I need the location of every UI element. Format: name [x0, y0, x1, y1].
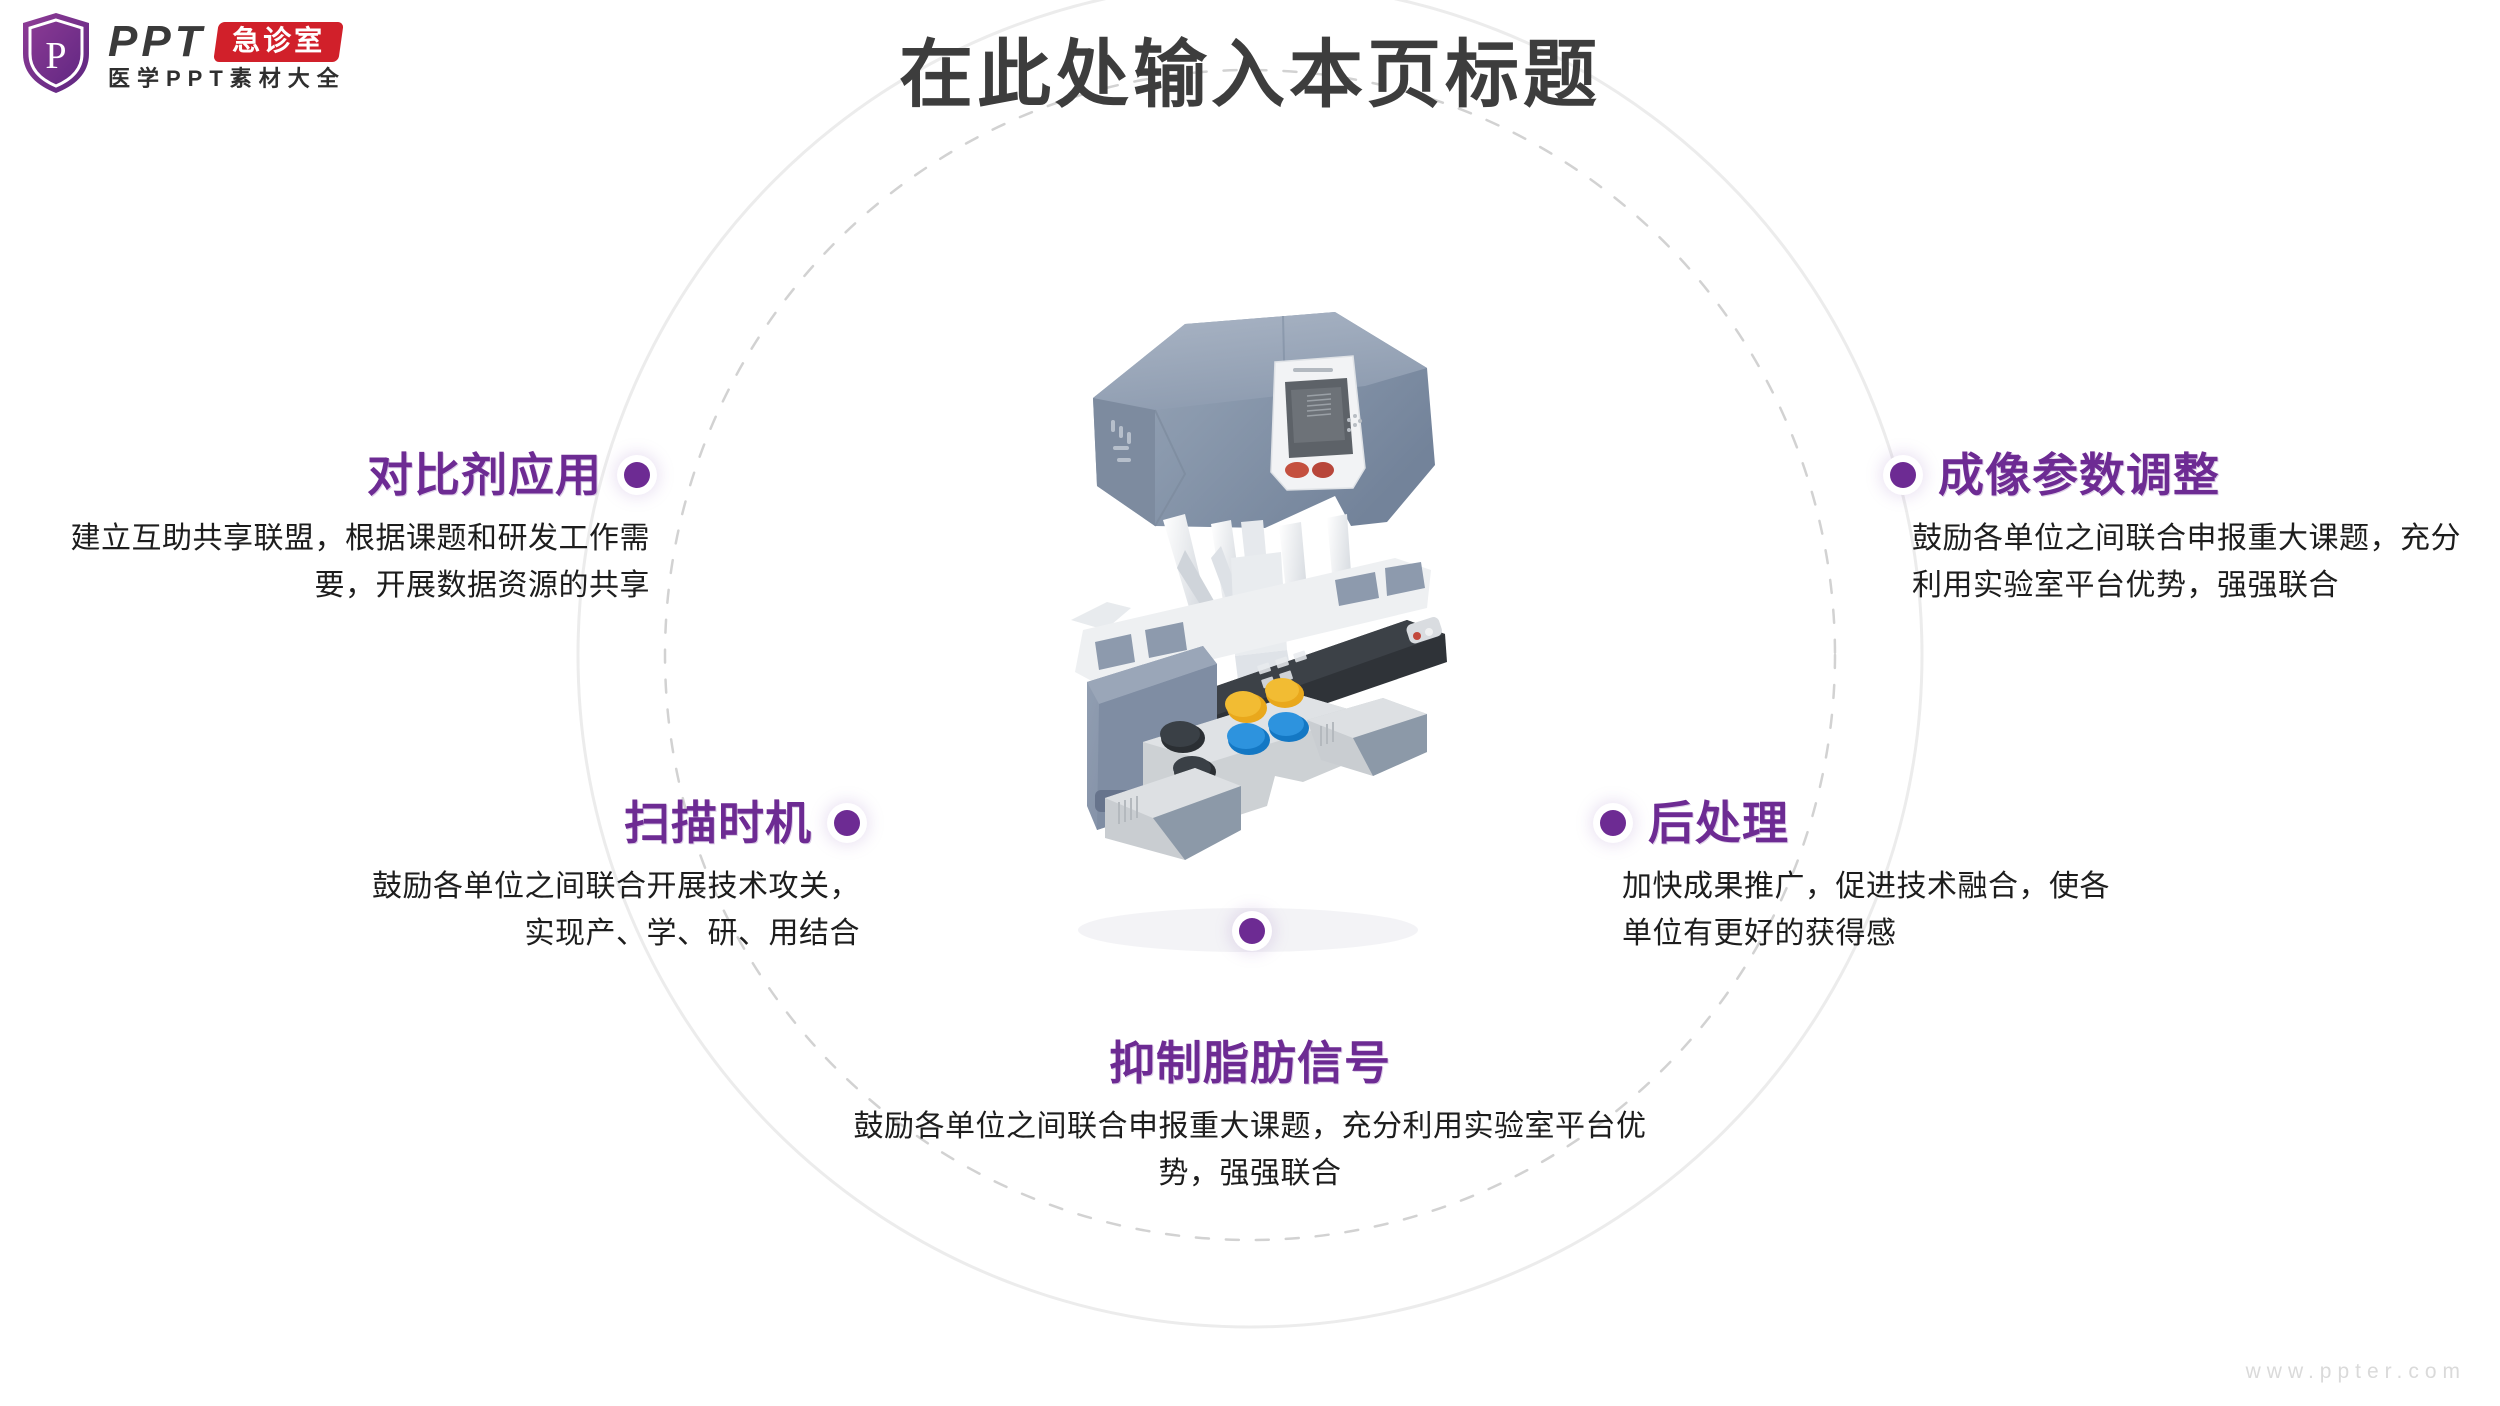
callout-contrast-body: 建立互助共享联盟，根据课题和研发工作需要，开展数据资源的共享 — [60, 516, 650, 609]
callout-post-heading: 后处理 — [1648, 800, 1789, 846]
callout-contrast-headrow: 对比剂应用 — [60, 452, 650, 498]
page-title: 在此处输入本页标题 — [0, 38, 2500, 112]
callout-contrast[interactable]: 对比剂应用 建立互助共享联盟，根据课题和研发工作需要，开展数据资源的共享 — [60, 452, 650, 609]
callout-imaging-headrow: 成像参数调整 — [1890, 452, 2490, 498]
surgical-robot-console-illustration — [1035, 290, 1465, 910]
callout-post-body: 加快成果推广，促进技术融合，使各单位有更好的获得感 — [1600, 864, 2120, 957]
callout-fat-headrow: 抑制脂肪信号 — [840, 1040, 1660, 1086]
node-dot-icon — [834, 810, 860, 836]
callout-post-headrow: 后处理 — [1600, 800, 2120, 846]
node-dot-icon — [1600, 810, 1626, 836]
slide-canvas: P PPT 急诊室 医学PPT素材大全 在此处输入本页标题 — [0, 0, 2500, 1406]
callout-fat-body: 鼓励各单位之间联合申报重大课题，充分利用实验室平台优势，强强联合 — [840, 1104, 1660, 1197]
callout-contrast-heading: 对比剂应用 — [367, 452, 602, 498]
console-eyepiece — [1271, 356, 1365, 490]
callout-post[interactable]: 后处理 加快成果推广，促进技术融合，使各单位有更好的获得感 — [1600, 800, 2120, 957]
callout-scan-body: 鼓励各单位之间联合开展技术攻关，实现产、学、研、用结合 — [360, 864, 860, 957]
callout-scan-headrow: 扫描时机 — [360, 800, 860, 846]
node-dot-icon — [624, 462, 650, 488]
callout-imaging[interactable]: 成像参数调整 鼓励各单位之间联合申报重大课题，充分利用实验室平台优势，强强联合 — [1890, 452, 2490, 609]
callout-scan[interactable]: 扫描时机 鼓励各单位之间联合开展技术攻关，实现产、学、研、用结合 — [360, 800, 860, 957]
callout-scan-heading: 扫描时机 — [624, 800, 812, 846]
callout-imaging-body: 鼓励各单位之间联合申报重大课题，充分利用实验室平台优势，强强联合 — [1890, 516, 2490, 609]
callout-fat-suppression[interactable]: 抑制脂肪信号 鼓励各单位之间联合申报重大课题，充分利用实验室平台优势，强强联合 — [840, 1040, 1660, 1197]
console-viewer-hood — [1093, 312, 1435, 528]
callout-fat-heading: 抑制脂肪信号 — [1109, 1040, 1391, 1086]
callout-imaging-heading: 成像参数调整 — [1938, 452, 2220, 498]
footer-watermark: www.ppter.com — [2246, 1360, 2466, 1384]
node-dot-icon-bottom — [1239, 918, 1265, 944]
node-dot-icon — [1890, 462, 1916, 488]
